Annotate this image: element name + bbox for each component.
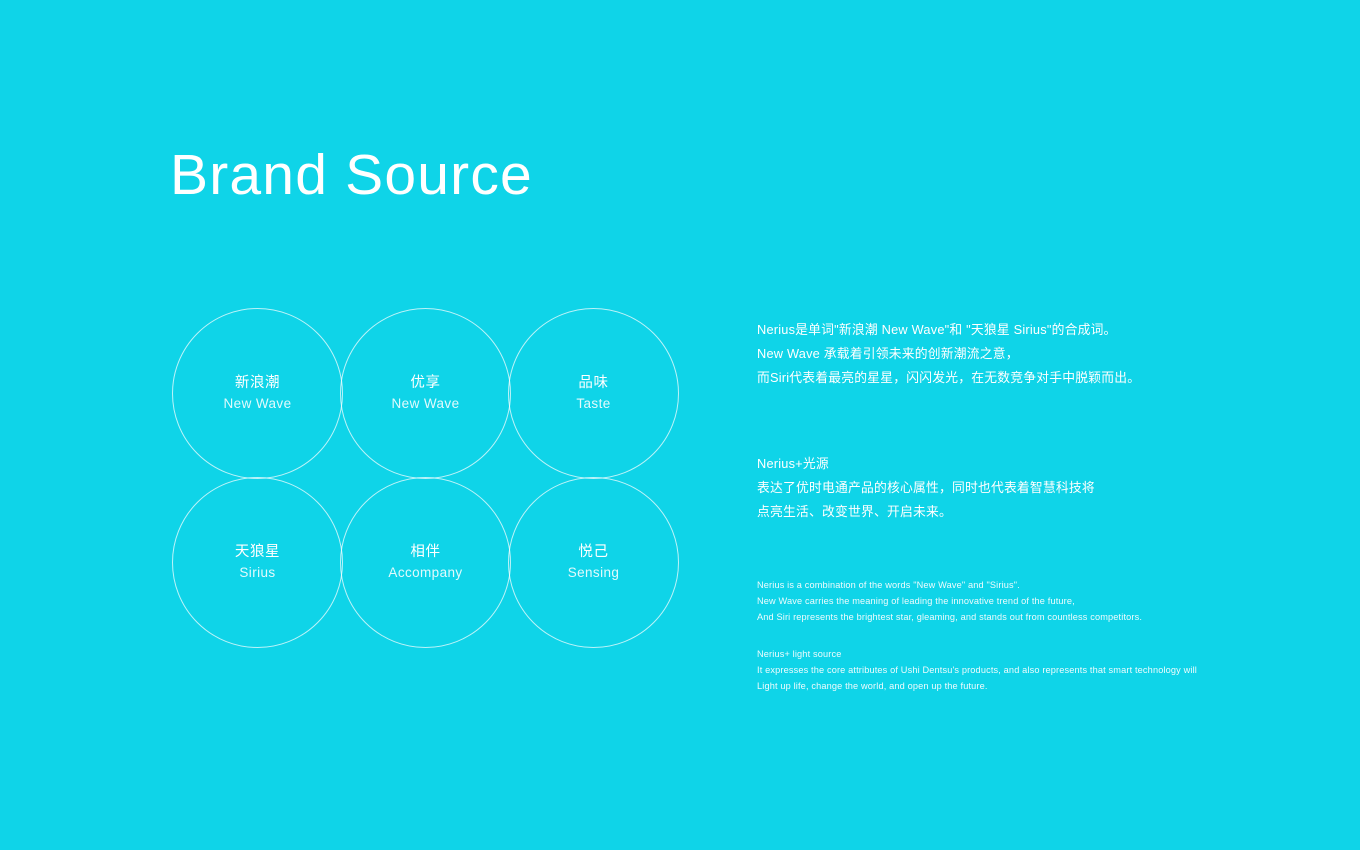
circle-sensing: 悦己 Sensing — [508, 477, 679, 648]
description-column: Nerius是单词"新浪潮 New Wave"和 "天狼星 Sirius"的合成… — [757, 318, 1217, 695]
circle-label-cn: 天狼星 — [235, 542, 280, 563]
circle-label-cn: 悦己 — [578, 542, 608, 563]
circle-sirius: 天狼星 Sirius — [172, 477, 343, 648]
circle-label-cn: 相伴 — [410, 542, 440, 563]
circle-youxiang: 优享 New Wave — [340, 308, 511, 479]
text-line: And Siri represents the brightest star, … — [757, 610, 1217, 626]
circle-label-en: Taste — [576, 394, 610, 414]
text-line: New Wave carries the meaning of leading … — [757, 594, 1217, 610]
chinese-paragraph-2: Nerius+光源 表达了优时电通产品的核心属性，同时也代表着智慧科技将 点亮生… — [757, 452, 1217, 524]
text-line: Nerius+ light source — [757, 647, 1217, 663]
circle-label-en: Sirius — [239, 563, 275, 583]
circle-label-cn: 品味 — [578, 373, 608, 394]
circle-label-en: Accompany — [388, 563, 462, 583]
circle-new-wave-cn: 新浪潮 New Wave — [172, 308, 343, 479]
text-line: 而Siri代表着最亮的星星，闪闪发光，在无数竞争对手中脱颖而出。 — [757, 366, 1217, 390]
circle-label-cn: 新浪潮 — [235, 373, 280, 394]
circle-label-en: New Wave — [392, 394, 460, 414]
page-title: Brand Source — [170, 140, 533, 210]
chinese-paragraph-1: Nerius是单词"新浪潮 New Wave"和 "天狼星 Sirius"的合成… — [757, 318, 1217, 390]
english-paragraph-1: Nerius is a combination of the words "Ne… — [757, 578, 1217, 625]
text-line: Nerius+光源 — [757, 452, 1217, 476]
text-line: New Wave 承载着引领未来的创新潮流之意， — [757, 342, 1217, 366]
circle-label-cn: 优享 — [410, 373, 440, 394]
brand-source-circle-diagram: 新浪潮 New Wave 优享 New Wave 品味 Taste 天狼星 Si… — [172, 308, 680, 649]
circle-taste: 品味 Taste — [508, 308, 679, 479]
circle-label-en: New Wave — [224, 394, 292, 414]
text-line: Nerius是单词"新浪潮 New Wave"和 "天狼星 Sirius"的合成… — [757, 318, 1217, 342]
text-line: It expresses the core attributes of Ushi… — [757, 663, 1217, 679]
text-line: 点亮生活、改变世界、开启未来。 — [757, 500, 1217, 524]
english-paragraph-2: Nerius+ light source It expresses the co… — [757, 647, 1217, 694]
circle-label-en: Sensing — [568, 563, 620, 583]
circle-accompany: 相伴 Accompany — [340, 477, 511, 648]
text-line: 表达了优时电通产品的核心属性，同时也代表着智慧科技将 — [757, 476, 1217, 500]
text-line: Light up life, change the world, and ope… — [757, 679, 1217, 695]
text-line: Nerius is a combination of the words "Ne… — [757, 578, 1217, 594]
